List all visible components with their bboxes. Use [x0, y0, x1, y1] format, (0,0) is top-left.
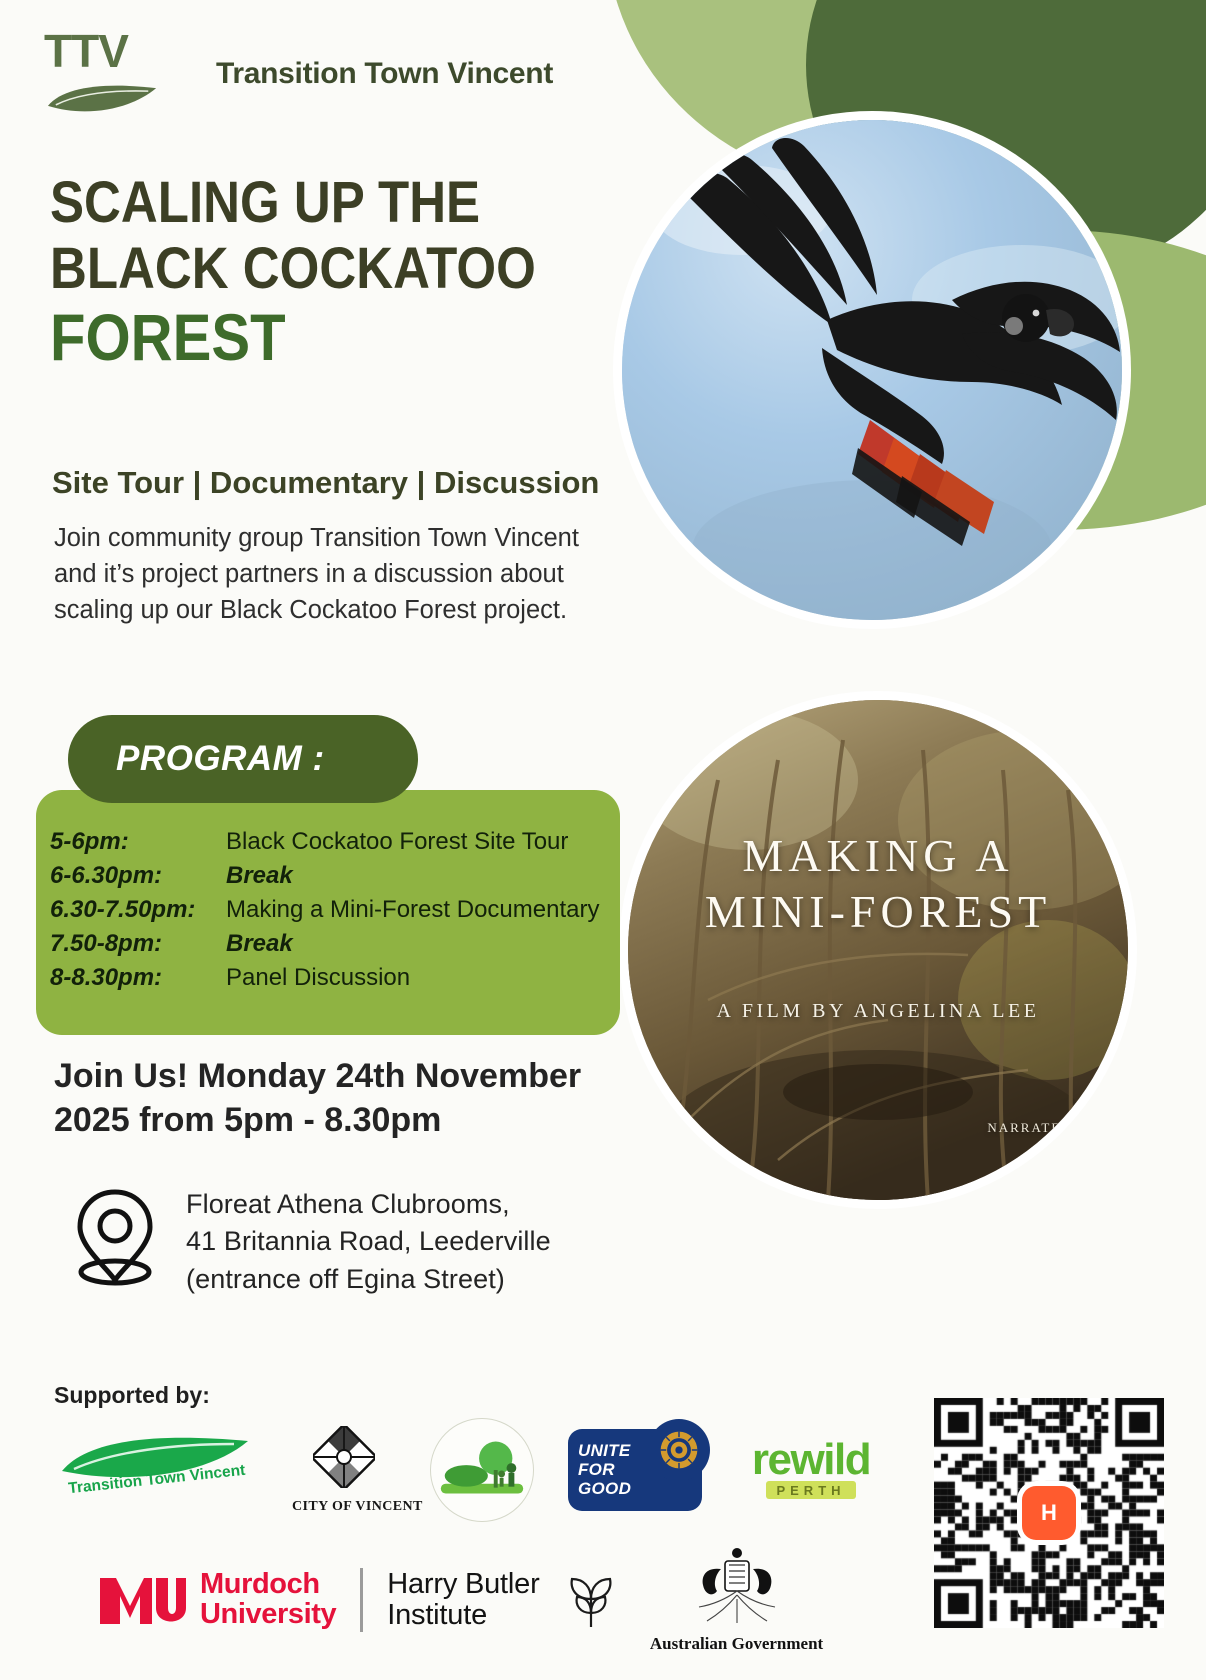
logo-mini-forest-project [430, 1418, 534, 1522]
title-line-1: SCALING UP THE [50, 175, 536, 231]
logo-caption: CITY OF VINCENT [292, 1499, 396, 1515]
leaf-icon [564, 1569, 618, 1631]
event-date-line-2: 2025 from 5pm - 8.30pm [54, 1099, 581, 1143]
film-title: MAKING A MINI-FOREST [628, 828, 1128, 940]
title-line-2: BLACK COCKATOO [50, 241, 536, 297]
supported-by-label: Supported by: [54, 1382, 210, 1409]
program-row: 8-8.30pm:Panel Discussion [50, 961, 650, 995]
logo-city-of-vincent: CITY OF VINCENT [292, 1426, 396, 1515]
logo-divider [360, 1568, 363, 1632]
film-credit: A FILM BY ANGELINA LEE [628, 1000, 1128, 1023]
event-description: Join community group Transition Town Vin… [54, 520, 594, 629]
event-datetime: Join Us! Monday 24th November 2025 from … [54, 1055, 581, 1142]
film-narrator-name: Har [987, 1138, 1100, 1168]
program-heading-label: PROGRAM : [116, 739, 325, 779]
ttv-logo: TTV [44, 28, 172, 120]
logo-transition-town-vincent: Transition Town Vincent [58, 1427, 258, 1513]
logo-caption: Murdoch [200, 1570, 336, 1600]
logo-australian-government: Australian Government [642, 1545, 832, 1654]
org-name: Transition Town Vincent [216, 57, 553, 91]
supporter-logo-row-1: Transition Town Vincent CITY OF VINCENT [58, 1418, 886, 1522]
mu-monogram-icon [96, 1572, 188, 1628]
program-description: Panel Discussion [226, 961, 410, 995]
program-row: 7.50-8pm:Break [50, 927, 650, 961]
program-row: 6.30-7.50pm:Making a Mini-Forest Documen… [50, 893, 650, 927]
logo-rewild-perth: rewild PERTH [736, 1440, 886, 1501]
film-title-line-2: MINI-FOREST [628, 884, 1128, 940]
logo-sub-caption: University [200, 1600, 336, 1630]
program-description: Making a Mini-Forest Documentary [226, 893, 599, 927]
film-narrator: NARRATED BY Har [987, 1120, 1100, 1168]
documentary-poster-photo: MAKING A MINI-FOREST A FILM BY ANGELINA … [628, 700, 1128, 1200]
logo-caption: rewild [736, 1440, 886, 1480]
event-subtitle: Site Tour | Documentary | Discussion [52, 465, 599, 501]
event-venue: Floreat Athena Clubrooms, 41 Britannia R… [72, 1180, 551, 1298]
film-title-line-1: MAKING A [628, 828, 1128, 884]
program-time: 8-8.30pm: [50, 961, 226, 995]
logo-harry-butler-institute: Harry Butler Institute [387, 1569, 539, 1630]
program-row: 5-6pm:Black Cockatoo Forest Site Tour [50, 825, 650, 859]
program-heading-pill: PROGRAM : [68, 715, 418, 803]
program-description: Break [226, 859, 293, 893]
logo-rotary-unite-for-good: UNITEFORGOOD [568, 1429, 702, 1511]
logo-sub-caption: PERTH [766, 1481, 855, 1499]
program-description: Break [226, 927, 293, 961]
logo-caption-block: Murdoch University [200, 1570, 336, 1629]
logo-caption: UNITEFORGOOD [578, 1441, 631, 1498]
location-pin-icon [72, 1186, 158, 1286]
title-line-3: FOREST [50, 306, 536, 369]
poster-canvas: TTV Transition Town Vincent SCALING UP T… [0, 0, 1206, 1680]
logo-sub-caption: Institute [387, 1600, 539, 1631]
film-narrator-label: NARRATED BY [987, 1120, 1100, 1135]
program-description: Black Cockatoo Forest Site Tour [226, 825, 568, 859]
tree-people-icon [431, 1419, 533, 1521]
qr-code[interactable]: H [934, 1398, 1164, 1628]
program-time: 6-6.30pm: [50, 859, 226, 893]
program-row: 6-6.30pm:Break [50, 859, 650, 893]
logo-caption: Harry Butler [387, 1569, 539, 1600]
commonwealth-crest-icon [677, 1545, 797, 1627]
logo-caption: Australian Government [642, 1634, 832, 1654]
page-title: SCALING UP THE BLACK COCKATOO FOREST [50, 175, 602, 370]
rotary-wheel-icon [648, 1419, 710, 1481]
cockatoo-illustration [622, 120, 1122, 620]
leaf-icon [46, 80, 164, 116]
venue-line-3: (entrance off Egina Street) [186, 1261, 551, 1298]
ttv-monogram: TTV [44, 28, 172, 74]
city-crest-icon [313, 1426, 375, 1488]
event-date-line-1: Join Us! Monday 24th November [54, 1055, 581, 1099]
program-time: 6.30-7.50pm: [50, 893, 226, 927]
program-schedule-list: 5-6pm:Black Cockatoo Forest Site Tour6-6… [50, 825, 650, 995]
program-time: 7.50-8pm: [50, 927, 226, 961]
supporter-logo-row-2: Murdoch University Harry Butler Institut… [96, 1545, 832, 1654]
venue-address: Floreat Athena Clubrooms, 41 Britannia R… [186, 1180, 551, 1298]
logo-murdoch-university: Murdoch University [96, 1570, 336, 1629]
poster-header: TTV Transition Town Vincent [44, 28, 553, 120]
qr-center-badge: H [1022, 1486, 1076, 1540]
venue-line-2: 41 Britannia Road, Leederville [186, 1223, 551, 1260]
venue-line-1: Floreat Athena Clubrooms, [186, 1186, 551, 1223]
program-time: 5-6pm: [50, 825, 226, 859]
black-cockatoo-photo [622, 120, 1122, 620]
